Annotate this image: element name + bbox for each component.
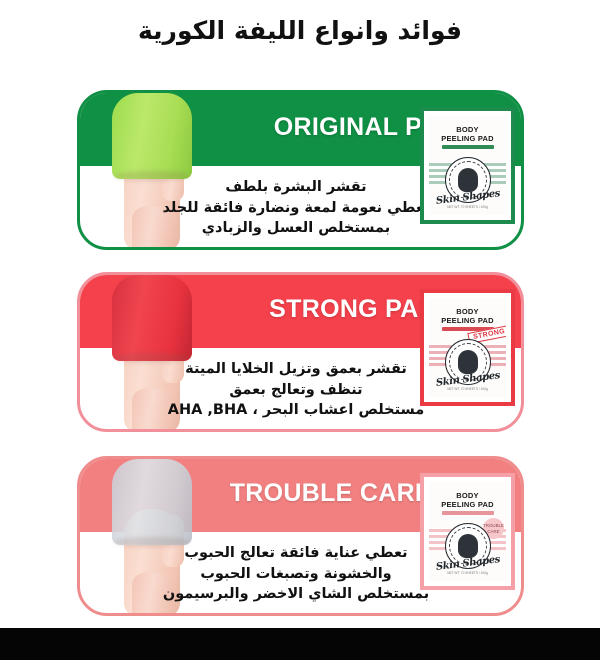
card-title-strong-pad: STRONG PAD: [269, 295, 437, 324]
package-title: BODY PEELING PAD: [429, 307, 506, 325]
description-line: تقشر البشرة بلطف: [151, 177, 441, 198]
package-title-line2: PEELING PAD: [429, 500, 506, 509]
card-description-trouble-care-pad: تعطي عناية فائقة تعالج الحبوب والخشونة و…: [151, 543, 441, 605]
package-title: BODY PEELING PAD: [429, 125, 506, 143]
package-footnote: NET WT. 70 SHEETS / 100g: [429, 387, 506, 392]
package-subtitle-bar: [442, 145, 494, 149]
package-artwork: BODY PEELING PAD STRONG Skin Shapes NET …: [429, 298, 506, 397]
package-artwork: BODY PEELING PAD Skin Shapes NET WT. 70 …: [429, 116, 506, 215]
package-subtitle-bar: [442, 511, 494, 515]
product-package-trouble-care-pad: BODY PEELING PAD TROUBLE CARE Skin Shape…: [420, 473, 515, 590]
description-line: مستخلص اعشاب البحر ، AHA ,BHA: [151, 400, 441, 421]
package-title-line2: PEELING PAD: [429, 134, 506, 143]
package-script-logo: Skin Shapes: [435, 188, 500, 207]
description-line: بمستخلص العسل والزبادي: [151, 218, 441, 239]
package-script-logo: Skin Shapes: [435, 370, 500, 389]
top-photo-band: [0, 0, 600, 7]
package-title-line1: BODY: [429, 125, 506, 134]
description-line: تعطي نعومة لمعة ونضارة فائقة للجلد: [151, 198, 441, 219]
description-line: تنظف وتعالج بعمق: [151, 380, 441, 401]
description-line: والخشونة وتصبغات الحبوب: [151, 564, 441, 585]
product-card-trouble-care-pad[interactable]: TROUBLE CARE PAD تعطي عناية فائقة تعالج …: [77, 456, 524, 616]
package-face-icon: [458, 534, 478, 558]
product-package-original-pad: BODY PEELING PAD Skin Shapes NET WT. 70 …: [420, 107, 515, 224]
card-description-original-pad: تقشر البشرة بلطف تعطي نعومة لمعة ونضارة …: [151, 177, 441, 239]
package-title: BODY PEELING PAD: [429, 491, 506, 509]
peeling-pad-shape: [112, 459, 192, 545]
product-card-original-pad[interactable]: ORIGINAL PAD تقشر البشرة بلطف تعطي نعومة…: [77, 90, 524, 250]
package-title-line1: BODY: [429, 307, 506, 316]
bottom-black-band: [0, 628, 600, 660]
package-footnote: NET WT. 70 SHEETS / 100g: [429, 571, 506, 576]
card-description-strong-pad: تقشر بعمق وتزيل الخلايا الميتة تنظف وتعا…: [151, 359, 441, 421]
package-footnote: NET WT. 70 SHEETS / 100g: [429, 205, 506, 210]
package-face-icon: [458, 168, 478, 192]
description-line: بمستخلص الشاي الاخضر والبرسيمون: [151, 584, 441, 605]
description-line: تعطي عناية فائقة تعالج الحبوب: [151, 543, 441, 564]
page-title: فوائد وانواع الليفة الكورية: [0, 16, 600, 45]
package-artwork: BODY PEELING PAD TROUBLE CARE Skin Shape…: [429, 482, 506, 581]
package-title-line1: BODY: [429, 491, 506, 500]
description-line: تقشر بعمق وتزيل الخلايا الميتة: [151, 359, 441, 380]
package-face-icon: [458, 350, 478, 374]
package-script-logo: Skin Shapes: [435, 554, 500, 573]
product-package-strong-pad: BODY PEELING PAD STRONG Skin Shapes NET …: [420, 289, 515, 406]
product-card-strong-pad[interactable]: STRONG PAD تقشر بعمق وتزيل الخلايا الميت…: [77, 272, 524, 432]
peeling-pad-shape: [112, 93, 192, 179]
package-title-line2: PEELING PAD: [429, 316, 506, 325]
peeling-pad-shape: [112, 275, 192, 361]
